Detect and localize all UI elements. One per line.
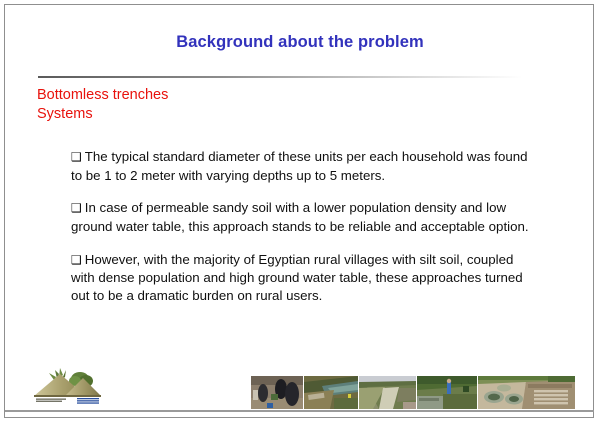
- photo-treatment-plant-aerial-image: [478, 376, 575, 409]
- bullet-text: The typical standard diameter of these u…: [71, 149, 528, 183]
- photo-green-field-worker-image: [417, 376, 477, 409]
- photo-treatment-plant-aerial: [478, 376, 575, 409]
- photo-green-field-worker: [417, 376, 478, 409]
- footer-divider: [5, 410, 594, 412]
- subtitle-line-1: Bottomless trenches: [37, 86, 337, 105]
- photo-open-trench: [359, 376, 417, 409]
- photo-open-trench-image: [359, 376, 416, 409]
- subtitle-line-2: Systems: [37, 105, 337, 124]
- organization-logo: [31, 365, 103, 405]
- bullet-text: However, with the majority of Egyptian r…: [71, 252, 523, 303]
- bullet-item: ❑In case of permeable sandy soil with a …: [71, 199, 539, 235]
- bullet-item: ❑The typical standard diameter of these …: [71, 148, 539, 184]
- slide: Background about the problem Bottomless …: [0, 0, 600, 424]
- bullet-item: ❑However, with the majority of Egyptian …: [71, 251, 539, 305]
- body-content: ❑The typical standard diameter of these …: [71, 135, 539, 304]
- title-divider: [38, 76, 522, 78]
- section-subtitle: Bottomless trenches Systems: [37, 86, 337, 124]
- photo-drainage-canal-image: [304, 376, 358, 409]
- page-title: Background about the problem: [0, 33, 600, 52]
- photo-workers-at-site-image: [251, 376, 303, 409]
- photo-strip: [251, 376, 575, 409]
- photo-workers-at-site: [251, 376, 304, 409]
- water-lines-icon: [77, 398, 99, 404]
- photo-drainage-canal: [304, 376, 359, 409]
- logo-graphic: [31, 365, 103, 405]
- square-bullet-icon: ❑: [71, 150, 82, 164]
- square-bullet-icon: ❑: [71, 253, 82, 267]
- logo-caption-text: [36, 399, 66, 402]
- bullet-text: In case of permeable sandy soil with a l…: [71, 200, 529, 234]
- square-bullet-icon: ❑: [71, 201, 82, 215]
